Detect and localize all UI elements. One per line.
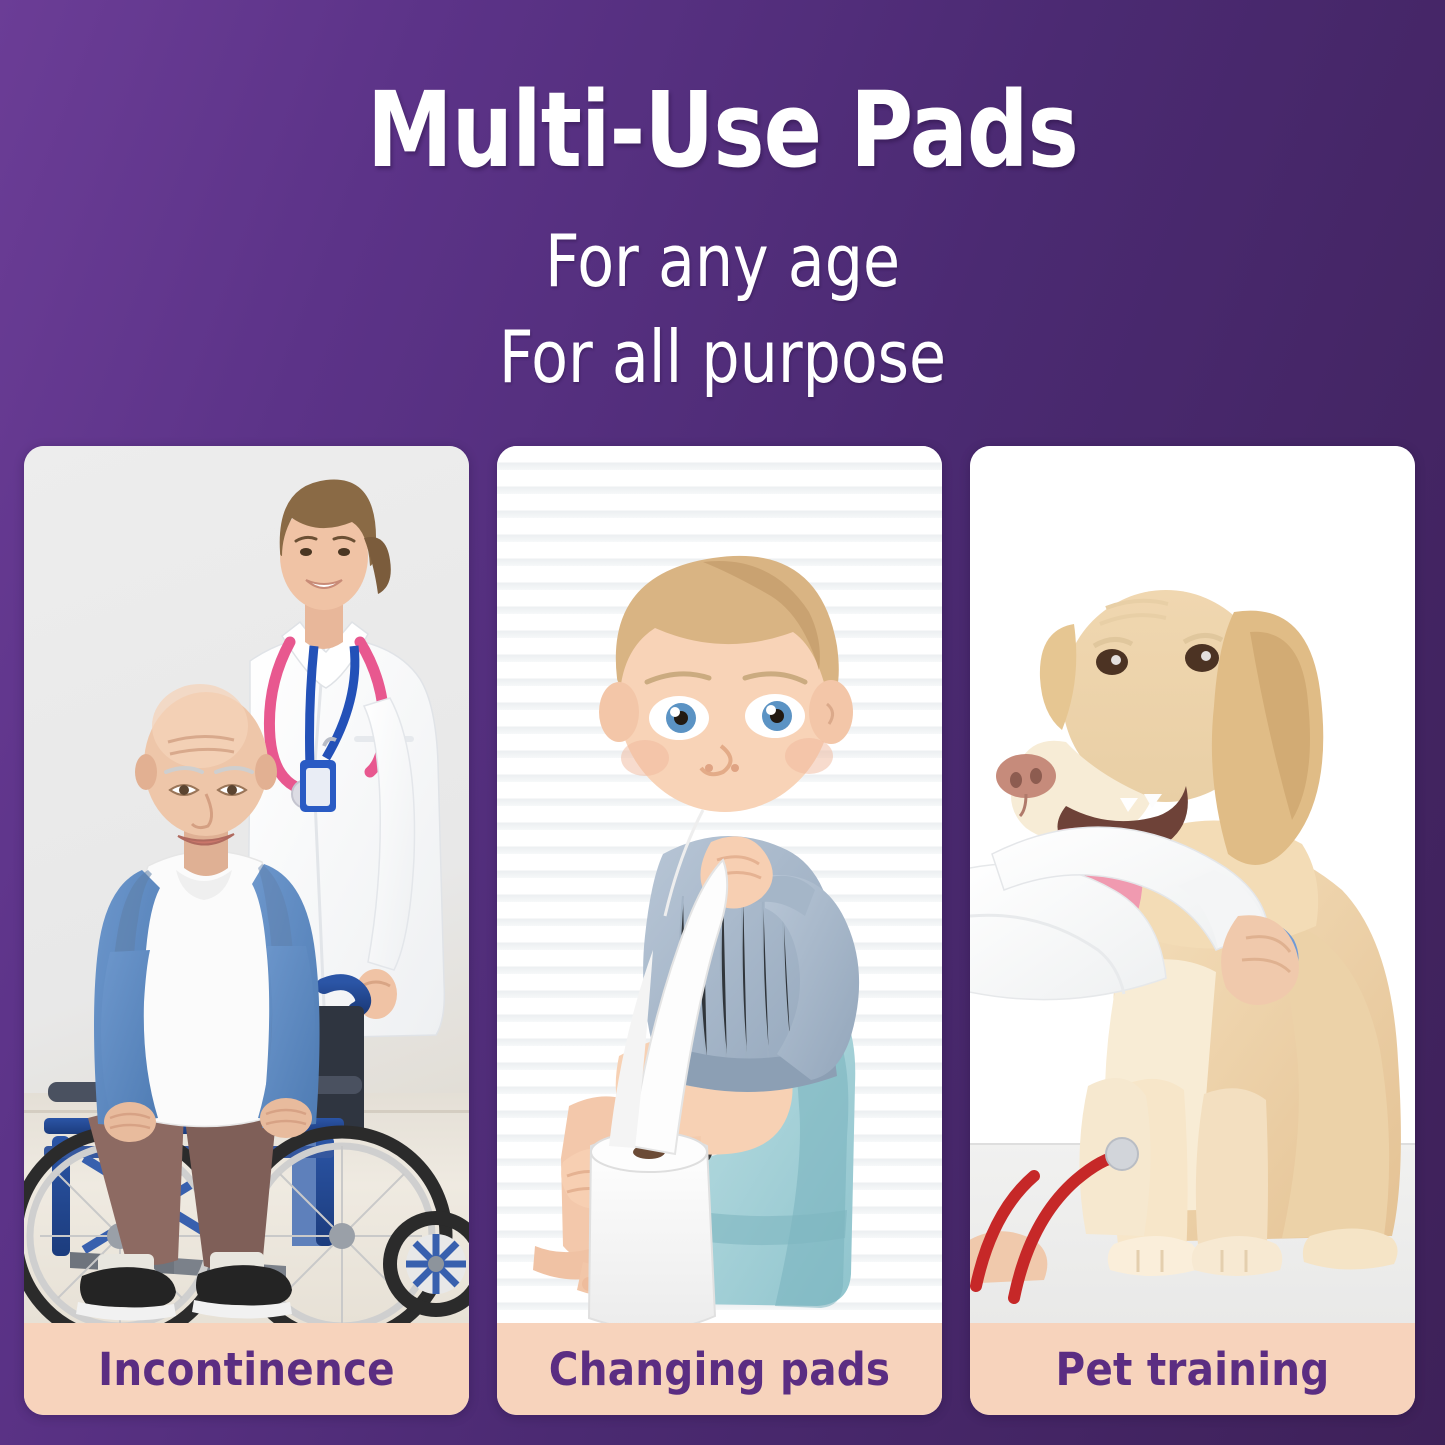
caption-text: Pet training bbox=[1056, 1343, 1330, 1396]
photo-pet-training bbox=[970, 446, 1415, 1323]
card-caption-pet-training: Pet training bbox=[970, 1323, 1415, 1415]
illustration-golden-retriever-with-vet bbox=[970, 446, 1415, 1323]
card-pet-training[interactable]: Pet training bbox=[970, 446, 1415, 1415]
caption-text: Changing pads bbox=[549, 1343, 890, 1396]
card-caption-changing-pads: Changing pads bbox=[497, 1323, 942, 1415]
infographic-canvas: Multi-Use Pads For any age For all purpo… bbox=[0, 0, 1445, 1445]
card-incontinence[interactable]: Incontinence bbox=[24, 446, 469, 1415]
photo-incontinence bbox=[24, 446, 469, 1323]
header: Multi-Use Pads For any age For all purpo… bbox=[0, 0, 1445, 430]
use-case-cards: Incontinence bbox=[0, 446, 1445, 1416]
page-title: Multi-Use Pads bbox=[58, 78, 1387, 182]
illustration-elderly-man-wheelchair-nurse bbox=[24, 446, 469, 1323]
caption-text: Incontinence bbox=[98, 1343, 395, 1396]
illustration-baby-on-potty bbox=[497, 446, 942, 1323]
subtitle-line-2: For all purpose bbox=[51, 310, 1395, 406]
card-caption-incontinence: Incontinence bbox=[24, 1323, 469, 1415]
subtitle-line-1: For any age bbox=[545, 219, 900, 303]
card-changing-pads[interactable]: Changing pads bbox=[497, 446, 942, 1415]
photo-changing-pads bbox=[497, 446, 942, 1323]
page-subtitle: For any age For all purpose bbox=[51, 214, 1395, 406]
